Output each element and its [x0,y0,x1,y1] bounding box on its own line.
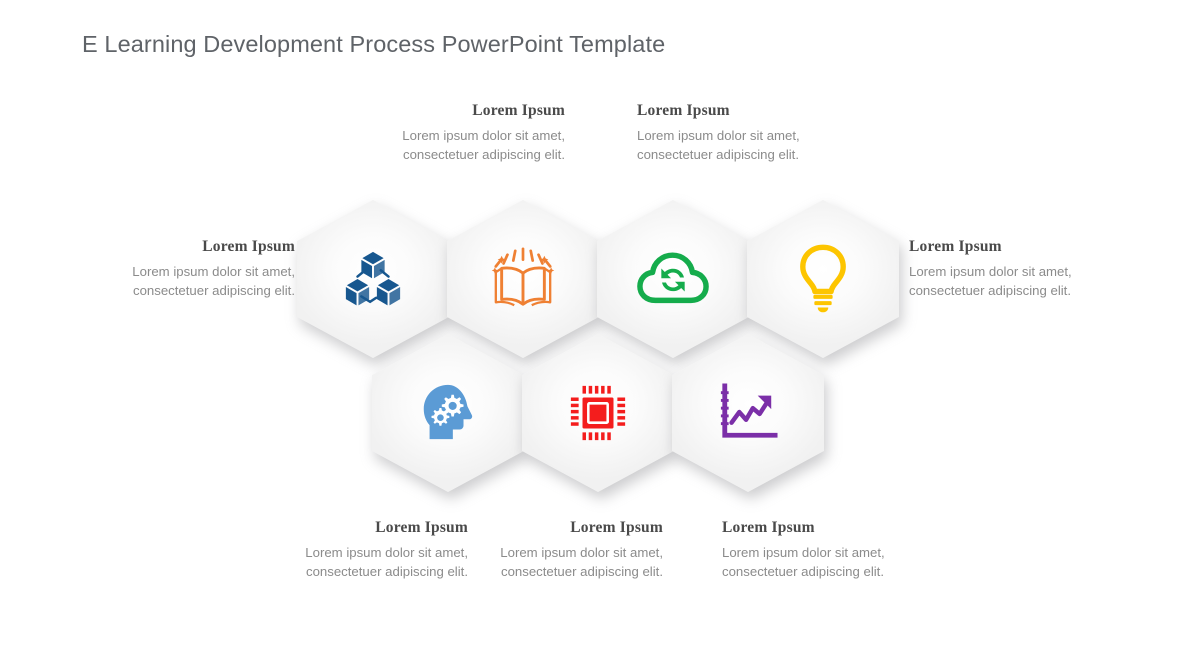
label-heading: Lorem Ipsum [637,101,817,120]
label-body: Lorem ipsum dolor sit amet, consectetuer… [909,263,1089,300]
growth-chart-icon [672,334,824,492]
label-body: Lorem ipsum dolor sit amet, consectetuer… [115,263,295,300]
label-body: Lorem ipsum dolor sit amet, consectetuer… [483,544,663,581]
diagram-canvas: Lorem Ipsum Lorem ipsum dolor sit amet, … [0,0,1180,664]
label-node-1: Lorem Ipsum Lorem ipsum dolor sit amet, … [115,237,295,301]
label-node-2: Lorem Ipsum Lorem ipsum dolor sit amet, … [385,101,565,165]
label-heading: Lorem Ipsum [288,518,468,537]
head-gears-icon [372,334,524,492]
label-heading: Lorem Ipsum [483,518,663,537]
label-node-4: Lorem Ipsum Lorem ipsum dolor sit amet, … [909,237,1089,301]
label-node-7: Lorem Ipsum Lorem ipsum dolor sit amet, … [722,518,902,582]
label-body: Lorem ipsum dolor sit amet, consectetuer… [637,127,817,164]
label-heading: Lorem Ipsum [115,237,295,256]
label-body: Lorem ipsum dolor sit amet, consectetuer… [385,127,565,164]
hexagon-node-6[interactable] [522,334,674,492]
label-node-5: Lorem Ipsum Lorem ipsum dolor sit amet, … [288,518,468,582]
label-heading: Lorem Ipsum [909,237,1089,256]
label-body: Lorem ipsum dolor sit amet, consectetuer… [722,544,902,581]
hexagon-node-7[interactable] [672,334,824,492]
label-body: Lorem ipsum dolor sit amet, consectetuer… [288,544,468,581]
hexagon-node-5[interactable] [372,334,524,492]
label-heading: Lorem Ipsum [722,518,902,537]
label-node-3: Lorem Ipsum Lorem ipsum dolor sit amet, … [637,101,817,165]
label-node-6: Lorem Ipsum Lorem ipsum dolor sit amet, … [483,518,663,582]
label-heading: Lorem Ipsum [385,101,565,120]
cpu-chip-icon [522,334,674,492]
